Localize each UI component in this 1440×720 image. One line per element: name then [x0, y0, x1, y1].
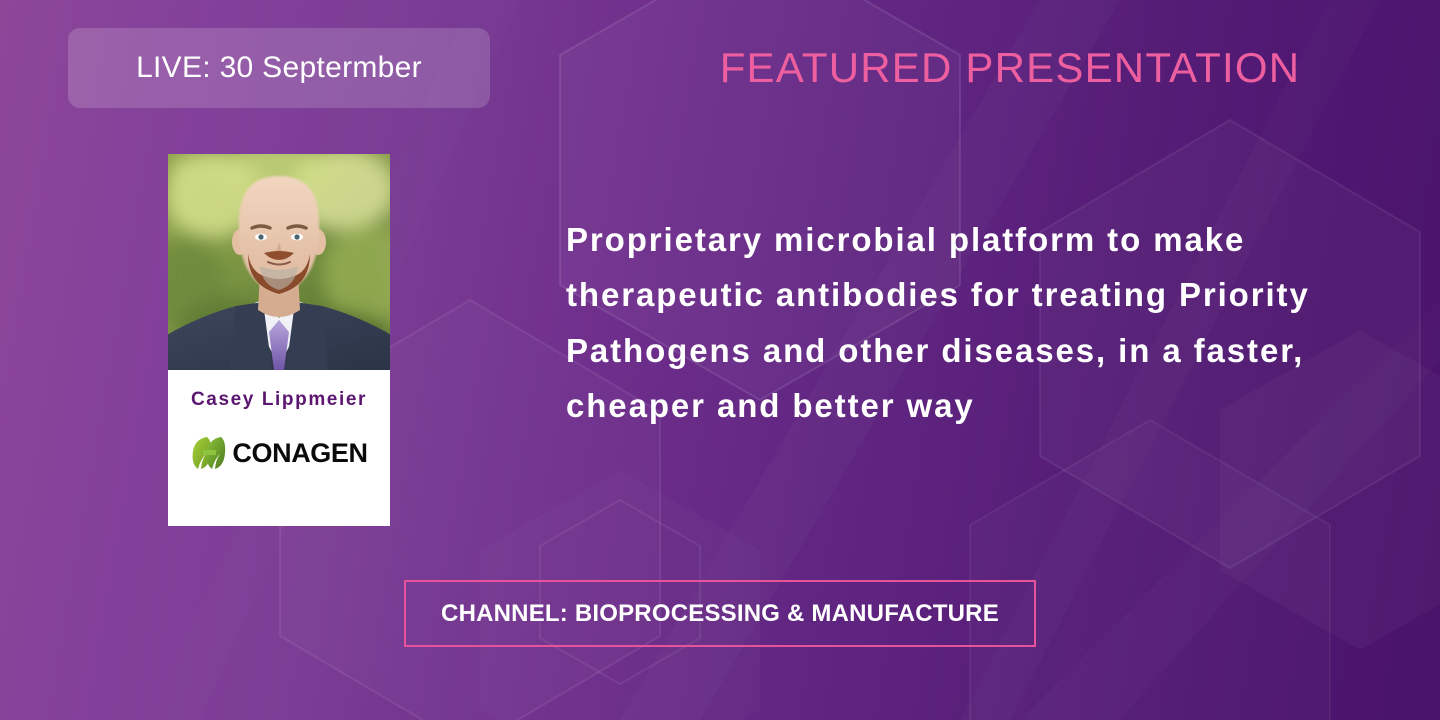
channel-label: CHANNEL: BIOPROCESSING & MANUFACTURE	[441, 600, 999, 628]
live-date-label: LIVE: 30 Septermber	[136, 51, 422, 85]
featured-presentation-heading: FEATURED PRESENTATION	[660, 44, 1360, 92]
company-name: CONAGEN	[232, 440, 367, 467]
live-date-badge: LIVE: 30 Septermber	[68, 28, 490, 108]
featured-presentation-banner: LIVE: 30 Septermber FEATURED PRESENTATIO…	[0, 0, 1440, 720]
conagen-leaf-logo-icon	[190, 436, 228, 470]
speaker-card: Casey Lippmeier CONAGEN	[168, 154, 390, 526]
speaker-name: Casey Lippmeier	[168, 388, 390, 412]
channel-badge: CHANNEL: BIOPROCESSING & MANUFACTURE	[404, 580, 1036, 647]
company-logo: CONAGEN	[168, 432, 390, 474]
speaker-portrait-photo	[168, 154, 390, 370]
presentation-title: Proprietary microbial platform to make t…	[566, 212, 1406, 434]
